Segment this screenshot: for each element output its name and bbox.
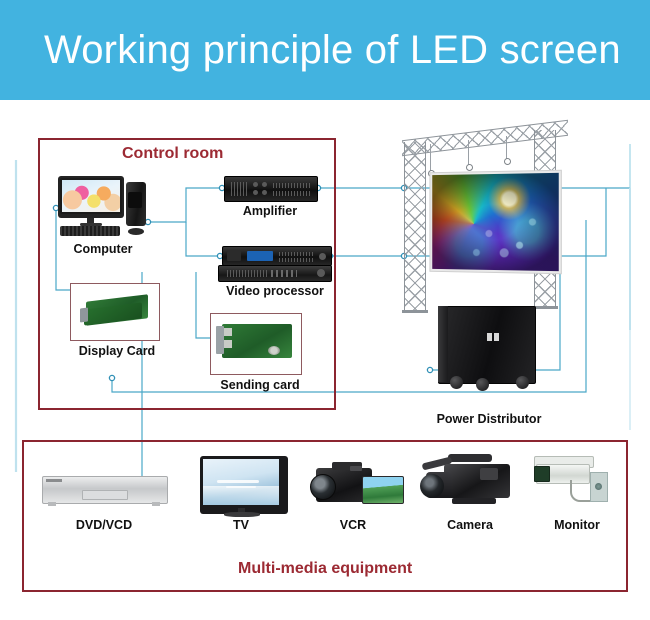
power-distributor-illustration — [432, 306, 544, 398]
sending-card-label: Sending card — [200, 378, 320, 392]
power-distributor-label: Power Distributor — [424, 412, 554, 426]
monitor-illustration — [532, 452, 618, 514]
page-header: Working principle of LED screen — [0, 0, 650, 100]
dvd-vcd-illustration — [42, 468, 166, 510]
computer-label: Computer — [48, 242, 158, 256]
amplifier-label: Amplifier — [215, 204, 325, 218]
vcr-illustration — [310, 462, 404, 514]
monitor-label: Monitor — [532, 518, 622, 532]
camera-illustration — [418, 452, 524, 514]
video-processor-illustration — [222, 246, 332, 266]
tv-label: TV — [196, 518, 286, 532]
multimedia-title: Multi-media equipment — [238, 560, 412, 578]
dvd-vcd-label: DVD/VCD — [44, 518, 164, 532]
sending-card-illustration — [216, 320, 296, 368]
amplifier-illustration — [224, 176, 318, 202]
camera-label: Camera — [420, 518, 520, 532]
control-room-title: Control room — [122, 145, 223, 163]
video-processor-second-unit — [218, 265, 332, 282]
vcr-label: VCR — [308, 518, 398, 532]
page-title: Working principle of LED screen — [44, 22, 621, 78]
display-card-label: Display Card — [62, 344, 172, 358]
led-screen — [430, 171, 560, 274]
tv-illustration — [196, 456, 286, 518]
computer-illustration — [58, 176, 152, 238]
diagram-canvas: Control room Computer Display Card Ampl — [0, 100, 650, 620]
video-processor-label: Video processor — [200, 284, 350, 298]
display-card-illustration — [78, 292, 152, 332]
